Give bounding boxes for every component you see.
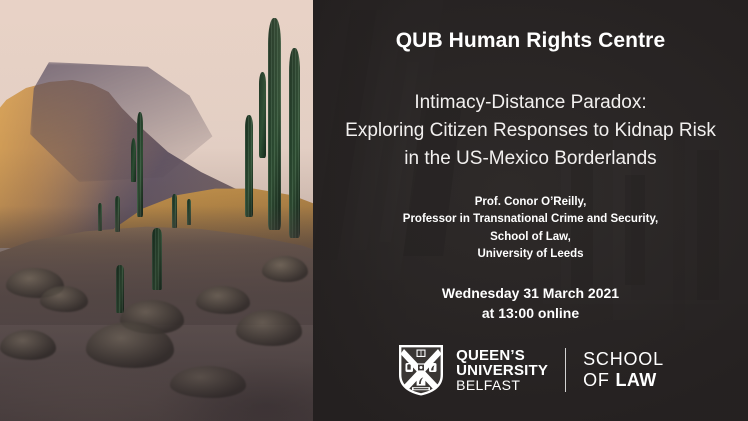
talk-title-line-1: Intimacy-Distance Paradox: xyxy=(329,89,732,117)
talk-title-line-3: in the US-Mexico Borderlands xyxy=(329,145,732,173)
qub-wordmark: QUEEN’S UNIVERSITY BELFAST xyxy=(456,348,548,393)
speaker-institution: University of Leeds xyxy=(329,246,732,263)
event-datetime: Wednesday 31 March 2021 at 13:00 online xyxy=(329,283,732,323)
desert-brush xyxy=(0,330,56,360)
centre-name: QUB Human Rights Centre xyxy=(313,29,748,53)
school-of-law-line-2: OF LAW xyxy=(583,370,664,391)
cactus-icon xyxy=(116,265,124,313)
poster-content: QUB Human Rights Centre Intimacy-Distanc… xyxy=(313,0,748,421)
desert-brush xyxy=(170,366,246,398)
event-time: at 13:00 online xyxy=(329,303,732,323)
cactus-arm xyxy=(131,138,136,182)
desert-brush xyxy=(236,310,302,346)
speaker-name: Prof. Conor O’Reilly, xyxy=(329,194,732,211)
speaker-details: Prof. Conor O’Reilly, Professor in Trans… xyxy=(329,194,732,264)
school-of-law-line-1: SCHOOL xyxy=(583,349,664,370)
cactus-icon xyxy=(152,228,162,290)
school-of-law-law: LAW xyxy=(616,370,657,390)
desert-brush xyxy=(196,286,250,314)
qub-wordmark-line-1: QUEEN’S xyxy=(456,348,548,363)
qub-wordmark-line-2: UNIVERSITY xyxy=(456,363,548,378)
cactus-icon xyxy=(137,112,143,217)
school-of-law-of: OF xyxy=(583,370,615,390)
desert-brush xyxy=(40,286,88,312)
talk-title-line-2: Exploring Citizen Responses to Kidnap Ri… xyxy=(329,117,732,145)
desert-brush xyxy=(262,256,308,282)
queens-university-belfast-crest-icon xyxy=(397,343,445,397)
speaker-school: School of Law, xyxy=(329,229,732,246)
speaker-role: Professor in Transnational Crime and Sec… xyxy=(329,211,732,228)
event-poster: QUB Human Rights Centre Intimacy-Distanc… xyxy=(0,0,748,421)
desert-landscape-photo xyxy=(0,0,313,421)
cactus-arm xyxy=(259,72,266,158)
school-of-law-wordmark: SCHOOL OF LAW xyxy=(583,349,664,391)
talk-title: Intimacy-Distance Paradox: Exploring Cit… xyxy=(329,89,732,173)
cactus-icon xyxy=(268,18,281,230)
logo-divider xyxy=(565,348,566,392)
cactus-icon xyxy=(245,115,253,217)
qub-wordmark-line-3: BELFAST xyxy=(456,378,548,392)
logo-lockup: QUEEN’S UNIVERSITY BELFAST SCHOOL OF LAW xyxy=(313,343,748,397)
event-date: Wednesday 31 March 2021 xyxy=(329,283,732,303)
